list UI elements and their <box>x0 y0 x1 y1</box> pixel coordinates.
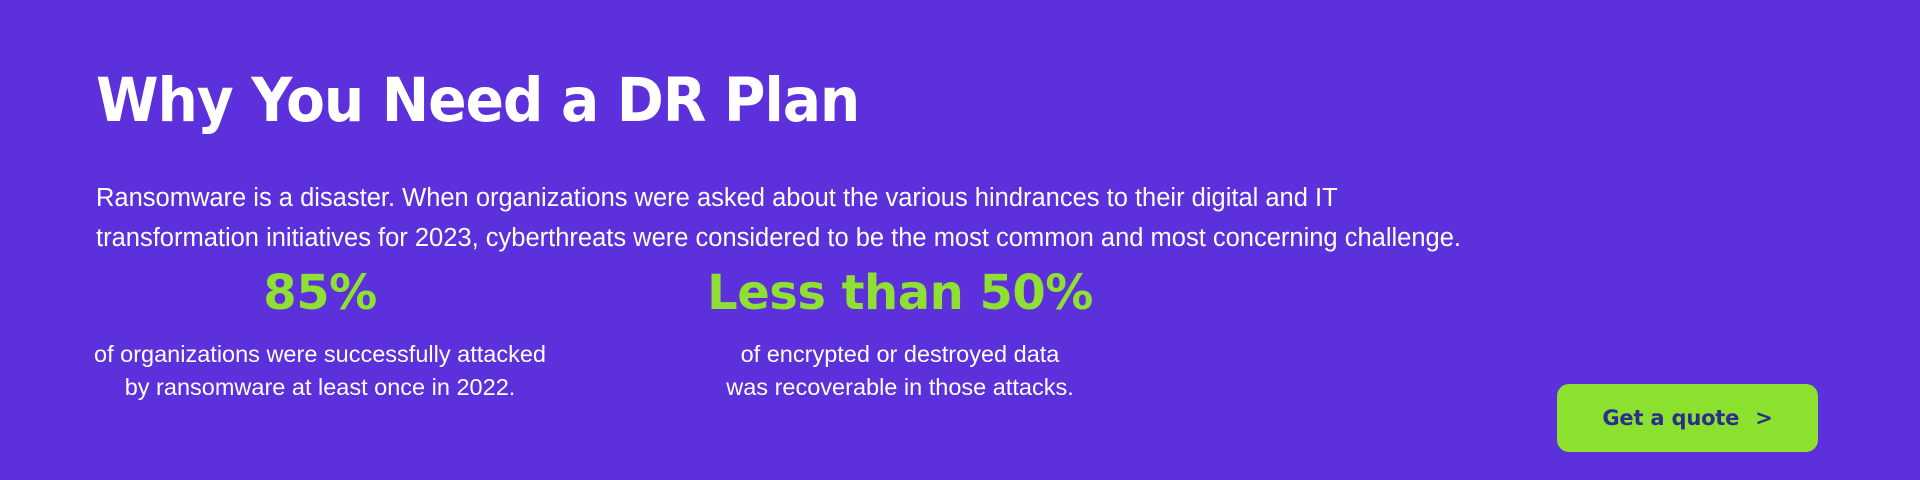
stat-figure: 85% <box>60 262 580 324</box>
get-a-quote-button[interactable]: Get a quote > <box>1557 384 1818 452</box>
intro-line-1: Ransomware is a disaster. When organizat… <box>96 178 1816 218</box>
promo-banner: Why You Need a DR Plan Ransomware is a d… <box>0 0 1920 480</box>
page-title: Why You Need a DR Plan <box>96 67 859 135</box>
stat-caption-line-2: was recoverable in those attacks. <box>640 371 1160 404</box>
stat-block-ransomware-attacks: 85% of organizations were successfully a… <box>60 262 580 404</box>
intro-line-2: transformation initiatives for 2023, cyb… <box>96 218 1816 258</box>
stat-block-data-recovery: Less than 50% of encrypted or destroyed … <box>640 262 1160 404</box>
chevron-right-icon: > <box>1755 408 1772 429</box>
stat-caption-line-1: of encrypted or destroyed data <box>640 338 1160 371</box>
stat-figure: Less than 50% <box>640 262 1160 324</box>
stat-caption: of organizations were successfully attac… <box>60 338 580 404</box>
intro-paragraph: Ransomware is a disaster. When organizat… <box>96 178 1816 258</box>
cta-button-label: Get a quote <box>1602 406 1739 430</box>
stat-caption-line-1: of organizations were successfully attac… <box>60 338 580 371</box>
stat-caption: of encrypted or destroyed data was recov… <box>640 338 1160 404</box>
stat-caption-line-2: by ransomware at least once in 2022. <box>60 371 580 404</box>
